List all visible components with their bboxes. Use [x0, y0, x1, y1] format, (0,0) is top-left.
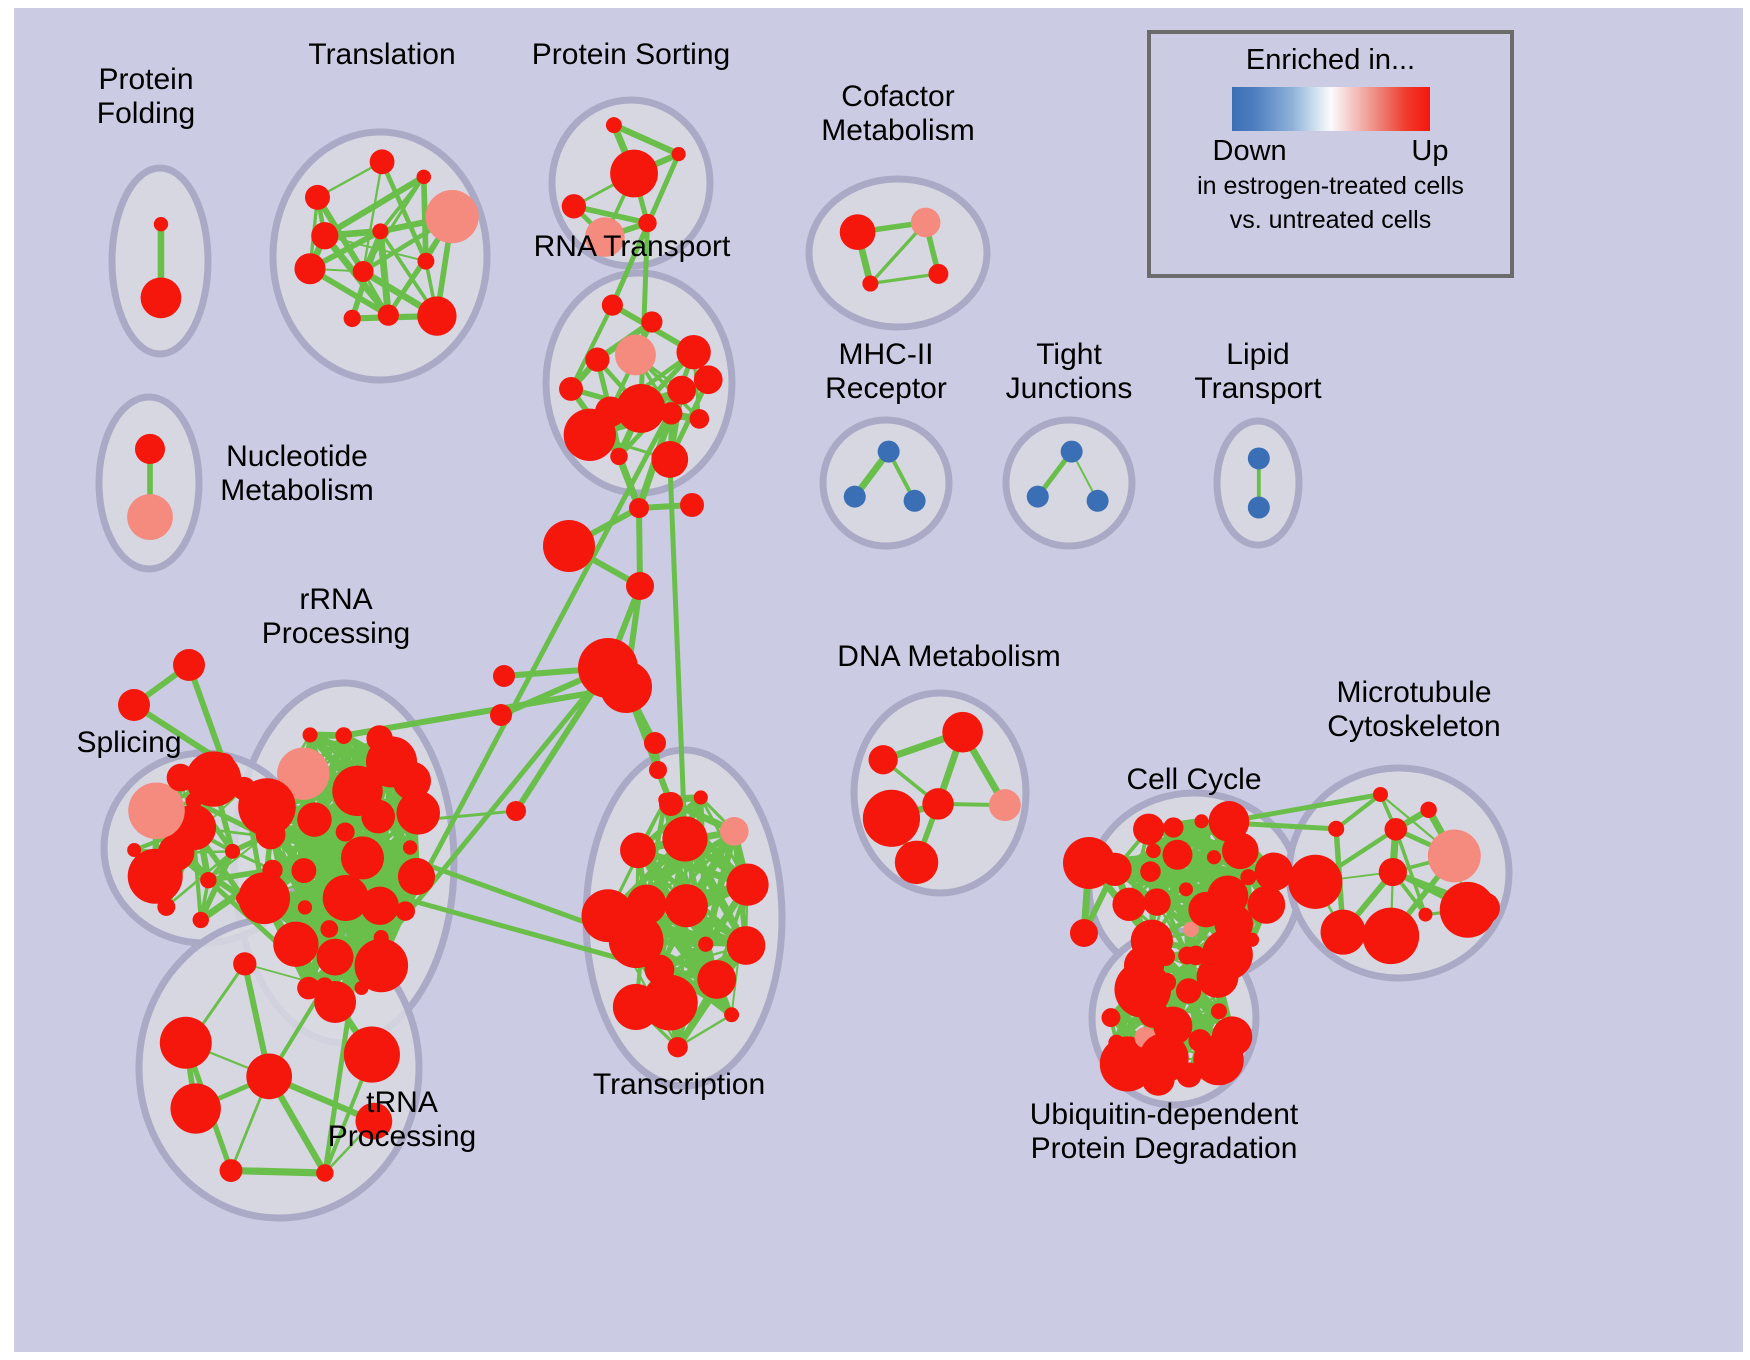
network-node[interactable] [662, 816, 707, 861]
network-node[interactable] [1420, 802, 1436, 818]
network-node[interactable] [233, 952, 256, 975]
network-node[interactable] [344, 1027, 400, 1083]
network-node[interactable] [1176, 978, 1201, 1003]
network-node[interactable] [694, 365, 723, 394]
network-node[interactable] [214, 753, 234, 773]
network-node[interactable] [417, 253, 434, 270]
network-node[interactable] [543, 520, 595, 572]
network-node[interactable] [720, 817, 749, 846]
network-node[interactable] [1197, 956, 1239, 998]
network-node[interactable] [320, 920, 338, 938]
network-node[interactable] [506, 801, 526, 821]
network-node[interactable] [1143, 888, 1170, 915]
network-node[interactable] [1063, 837, 1115, 889]
network-node[interactable] [672, 147, 686, 161]
legend-high-label: Up [1411, 135, 1448, 168]
network-node[interactable] [922, 788, 953, 819]
network-node[interactable] [294, 253, 325, 284]
network-node[interactable] [370, 149, 395, 174]
network-node[interactable] [585, 217, 625, 257]
network-node[interactable] [727, 926, 766, 965]
network-node[interactable] [641, 311, 662, 332]
network-canvas: ProteinFoldingTranslationProtein Sorting… [14, 8, 1743, 1352]
network-node[interactable] [676, 335, 710, 369]
enrichment-map-figure: ProteinFoldingTranslationProtein Sorting… [0, 0, 1750, 1360]
network-node[interactable] [1157, 973, 1176, 992]
network-node[interactable] [1288, 855, 1342, 909]
network-node[interactable] [1248, 447, 1270, 469]
legend-caption-line2: vs. untreated cells [1230, 206, 1432, 236]
network-node[interactable] [726, 863, 768, 905]
network-node[interactable] [170, 1083, 220, 1133]
network-node[interactable] [602, 295, 623, 316]
network-node[interactable] [680, 493, 704, 517]
network-node[interactable] [1061, 441, 1083, 463]
network-node[interactable] [1321, 910, 1366, 955]
network-node[interactable] [1468, 892, 1500, 924]
network-node[interactable] [374, 930, 389, 945]
network-node[interactable] [1428, 829, 1481, 882]
network-node[interactable] [697, 960, 736, 999]
network-node[interactable] [620, 833, 656, 869]
network-node[interactable] [403, 840, 418, 855]
network-node[interactable] [559, 377, 583, 401]
network-node[interactable] [562, 194, 586, 218]
network-node[interactable] [317, 939, 354, 976]
network-node[interactable] [1133, 814, 1164, 845]
network-node[interactable] [135, 434, 165, 464]
network-node[interactable] [354, 981, 368, 995]
network-node[interactable] [1146, 843, 1161, 858]
network-node[interactable] [942, 712, 983, 753]
network-edge [231, 1171, 325, 1173]
network-node[interactable] [256, 828, 273, 845]
network-node[interactable] [585, 348, 609, 372]
network-node[interactable] [724, 1007, 739, 1022]
network-node[interactable] [175, 1042, 193, 1060]
network-node[interactable] [311, 222, 338, 249]
network-node[interactable] [660, 402, 682, 424]
network-node[interactable] [911, 208, 941, 238]
network-node[interactable] [1247, 886, 1285, 924]
network-node[interactable] [1186, 946, 1206, 966]
network-node[interactable] [1179, 882, 1193, 896]
network-node[interactable] [353, 261, 374, 282]
network-node[interactable] [844, 486, 866, 508]
network-node[interactable] [1138, 998, 1168, 1028]
network-node[interactable] [904, 490, 926, 512]
network-node[interactable] [869, 745, 898, 774]
network-node[interactable] [366, 736, 417, 787]
network-node[interactable] [361, 800, 395, 834]
network-node[interactable] [158, 834, 195, 871]
network-node[interactable] [638, 214, 656, 232]
network-node[interactable] [1328, 821, 1344, 837]
network-node[interactable] [236, 891, 251, 906]
network-node[interactable] [667, 1037, 687, 1057]
network-node[interactable] [1163, 817, 1183, 837]
network-node[interactable] [417, 296, 456, 335]
network-node[interactable] [1140, 861, 1161, 882]
legend-low-label: Down [1213, 135, 1287, 168]
network-node[interactable] [298, 900, 312, 914]
network-node[interactable] [426, 190, 479, 243]
legend-title: Enriched in... [1246, 44, 1415, 77]
legend-colorbar [1232, 87, 1430, 131]
network-node[interactable] [193, 912, 209, 928]
network-node[interactable] [928, 264, 948, 284]
network-node[interactable] [1255, 853, 1293, 891]
network-node[interactable] [396, 791, 440, 835]
network-node[interactable] [323, 875, 369, 921]
network-node[interactable] [417, 170, 432, 185]
network-node[interactable] [316, 977, 333, 994]
network-node[interactable] [490, 704, 512, 726]
network-node[interactable] [659, 792, 683, 816]
network-node[interactable] [840, 214, 876, 250]
network-node[interactable] [186, 793, 202, 809]
network-node[interactable] [1108, 1035, 1124, 1051]
network-node[interactable] [690, 409, 710, 429]
network-node[interactable] [297, 802, 331, 836]
network-node[interactable] [626, 572, 654, 600]
network-node[interactable] [1070, 919, 1098, 947]
network-node[interactable] [600, 661, 652, 713]
network-node[interactable] [694, 790, 708, 804]
network-node[interactable] [273, 922, 318, 967]
network-node[interactable] [127, 494, 173, 540]
network-node[interactable] [649, 761, 667, 779]
network-node[interactable] [878, 441, 900, 463]
cluster-hull-mhc-ii-receptor [823, 420, 949, 546]
network-node[interactable] [595, 396, 626, 427]
network-node[interactable] [627, 885, 667, 925]
network-node[interactable] [629, 498, 649, 518]
network-node[interactable] [344, 310, 361, 327]
legend-caption-line1: in estrogen-treated cells [1197, 172, 1464, 202]
network-node[interactable] [1142, 1063, 1175, 1096]
network-node[interactable] [1209, 801, 1250, 842]
network-node[interactable] [316, 1164, 333, 1181]
network-node[interactable] [398, 858, 435, 895]
network-node[interactable] [665, 884, 708, 927]
network-node[interactable] [118, 689, 150, 721]
network-node[interactable] [154, 217, 168, 231]
network-node[interactable] [1112, 888, 1145, 921]
network-node[interactable] [1193, 1035, 1243, 1085]
network-node[interactable] [1214, 904, 1253, 943]
network-node[interactable] [698, 937, 713, 952]
network-node[interactable] [200, 872, 216, 888]
network-node[interactable] [336, 822, 355, 841]
network-node[interactable] [615, 334, 656, 375]
network-node[interactable] [1363, 908, 1420, 965]
network-node[interactable] [1240, 869, 1256, 885]
network-node[interactable] [642, 975, 698, 1031]
network-node[interactable] [610, 150, 658, 198]
network-node[interactable] [246, 1054, 292, 1100]
legend-endpoints: Down Up [1213, 135, 1449, 168]
network-node[interactable] [651, 441, 688, 478]
network-node[interactable] [989, 789, 1021, 821]
network-node[interactable] [863, 790, 920, 847]
network-node[interactable] [305, 185, 330, 210]
network-node[interactable] [303, 727, 318, 742]
network-node[interactable] [141, 277, 182, 318]
network-node[interactable] [1087, 490, 1109, 512]
network-node[interactable] [1101, 1008, 1120, 1027]
network-node[interactable] [1373, 787, 1388, 802]
network-node[interactable] [1027, 486, 1049, 508]
network-node[interactable] [1195, 814, 1209, 828]
network-node[interactable] [610, 448, 627, 465]
network-node[interactable] [355, 1103, 392, 1140]
network-node[interactable] [667, 376, 696, 405]
network-node[interactable] [1162, 840, 1192, 870]
network-node[interactable] [1248, 497, 1270, 519]
network-node[interactable] [862, 276, 878, 292]
network-node[interactable] [225, 844, 240, 859]
network-node[interactable] [895, 841, 938, 884]
network-node[interactable] [493, 665, 515, 687]
network-node[interactable] [173, 649, 205, 681]
cluster-hull-tight-junctions [1006, 420, 1132, 546]
network-node[interactable] [262, 860, 282, 880]
network-node[interactable] [1211, 1003, 1227, 1019]
network-node[interactable] [644, 732, 666, 754]
network-node[interactable] [128, 782, 185, 839]
legend-box: Enriched in... Down Up in estrogen-treat… [1147, 30, 1514, 278]
network-node[interactable] [335, 727, 352, 744]
network-edge [424, 177, 426, 261]
network-node[interactable] [361, 887, 399, 925]
network-node[interactable] [372, 223, 388, 239]
network-node[interactable] [291, 858, 316, 883]
network-node[interactable] [1379, 858, 1407, 886]
network-node[interactable] [606, 117, 622, 133]
network-node[interactable] [378, 305, 399, 326]
network-node[interactable] [1207, 850, 1221, 864]
network-node[interactable] [220, 1159, 243, 1182]
network-node[interactable] [1418, 908, 1432, 922]
network-node[interactable] [1384, 818, 1407, 841]
network-node[interactable] [341, 836, 384, 879]
